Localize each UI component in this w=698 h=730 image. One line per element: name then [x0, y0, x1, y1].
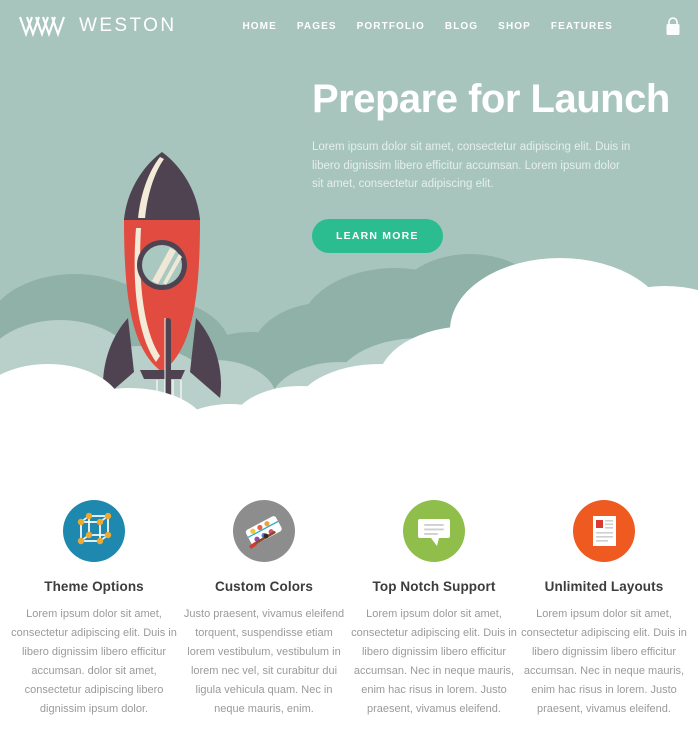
nav-link-pages[interactable]: PAGES — [297, 21, 337, 32]
feature-icon-wrap — [10, 500, 178, 562]
feature-text: Justo praesent, vivamus eleifend torquen… — [180, 605, 348, 718]
feature-card-top-notch-support: Top Notch Support Lorem ipsum dolor sit … — [350, 500, 518, 718]
nav-link-home[interactable]: HOME — [242, 21, 276, 32]
nav-link-features[interactable]: FEATURES — [551, 21, 613, 32]
shopping-bag-icon[interactable] — [664, 17, 682, 37]
paint-palette-icon — [233, 500, 295, 562]
speech-bubble-icon — [403, 500, 465, 562]
nav-link-portfolio[interactable]: PORTFOLIO — [357, 21, 425, 32]
rocket-engine-base — [140, 370, 185, 379]
feature-text: Lorem ipsum dolor sit amet, consectetur … — [350, 605, 518, 718]
brand-logo[interactable]: WESTON — [18, 13, 176, 39]
brand-name: WESTON — [79, 15, 176, 37]
feature-card-theme-options: Theme Options Lorem ipsum dolor sit amet… — [10, 500, 178, 718]
feature-icon-wrap — [520, 500, 688, 562]
learn-more-button[interactable]: LEARN MORE — [312, 219, 443, 253]
hero-content: Prepare for Launch Lorem ipsum dolor sit… — [312, 78, 632, 253]
cube-wireframe-icon — [63, 500, 125, 562]
hero-title: Prepare for Launch — [312, 78, 632, 120]
w-chevrons-logo-icon — [18, 13, 70, 39]
nav-link-blog[interactable]: BLOG — [445, 21, 478, 32]
feature-title: Theme Options — [10, 579, 178, 594]
feature-card-unlimited-layouts: Unlimited Layouts Lorem ipsum dolor sit … — [520, 500, 688, 718]
nav-links: HOME PAGES PORTFOLIO BLOG SHOP FEATURES — [242, 21, 612, 32]
feature-title: Top Notch Support — [350, 579, 518, 594]
feature-icon-wrap — [180, 500, 348, 562]
rocket-rod-highlight — [164, 318, 166, 463]
feature-title: Custom Colors — [180, 579, 348, 594]
hero-subtitle: Lorem ipsum dolor sit amet, consectetur … — [312, 138, 632, 194]
feature-title: Unlimited Layouts — [520, 579, 688, 594]
features-section: Theme Options Lorem ipsum dolor sit amet… — [0, 500, 698, 718]
hero-section: WESTON HOME PAGES PORTFOLIO BLOG SHOP FE… — [0, 0, 698, 500]
document-layout-icon — [573, 500, 635, 562]
feature-text: Lorem ipsum dolor sit amet, consectetur … — [520, 605, 688, 718]
rocket-body-seam — [124, 218, 200, 220]
feature-icon-wrap — [350, 500, 518, 562]
feature-card-custom-colors: Custom Colors Justo praesent, vivamus el… — [180, 500, 348, 718]
rocket-nose-cone — [124, 152, 200, 220]
nav-link-shop[interactable]: SHOP — [498, 21, 531, 32]
main-navigation: WESTON HOME PAGES PORTFOLIO BLOG SHOP FE… — [0, 0, 698, 52]
feature-text: Lorem ipsum dolor sit amet, consectetur … — [10, 605, 178, 718]
